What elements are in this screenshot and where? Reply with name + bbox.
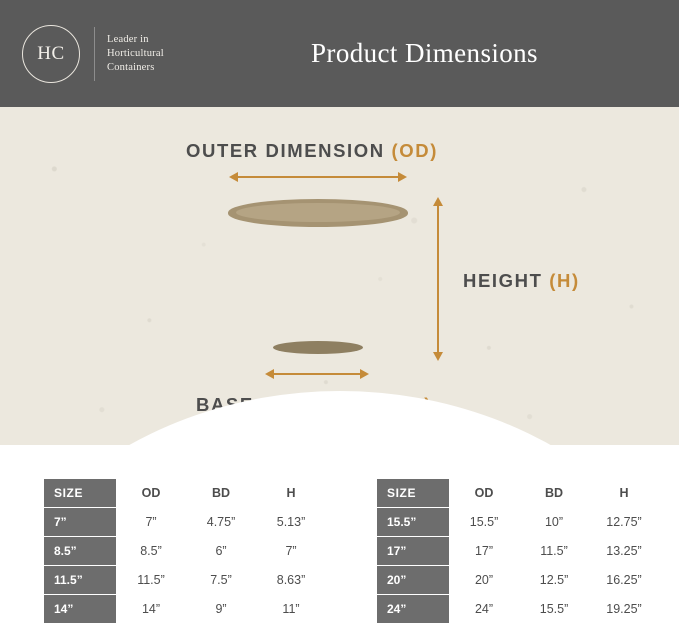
value-cell: 7”	[256, 537, 326, 566]
table-row: 8.5”8.5”6”7”	[44, 537, 326, 566]
pot-rim-inner	[236, 203, 400, 222]
height-label-text: HEIGHT	[463, 270, 549, 291]
dimension-table-right: SIZEODBDH15.5”15.5”10”12.75”17”17”11.5”1…	[377, 479, 659, 623]
value-cell: 8.5”	[116, 537, 186, 566]
column-header-size: SIZE	[377, 479, 449, 508]
size-cell: 24”	[377, 595, 449, 624]
value-cell: 6”	[186, 537, 256, 566]
diagram-panel: OUTER DIMENSION (OD) HEIGHT (H) BASE DIM…	[0, 107, 679, 451]
logo-tagline: Leader in Horticultural Containers	[107, 33, 164, 75]
outer-dimension-label: OUTER DIMENSION (OD)	[186, 140, 438, 162]
pot-illustration	[228, 199, 408, 364]
pot-base	[273, 341, 363, 354]
size-cell: 17”	[377, 537, 449, 566]
table-row: 14”14”9”11”	[44, 595, 326, 624]
pot-body	[235, 213, 401, 349]
column-header-od: OD	[449, 479, 519, 508]
dimension-tables: SIZEODBDH7”7”4.75”5.13”8.5”8.5”6”7”11.5”…	[0, 455, 679, 636]
pot-rim	[228, 199, 408, 227]
height-abbr: (H)	[549, 270, 579, 291]
value-cell: 12.5”	[519, 566, 589, 595]
brand-logo: HC Leader in Horticultural Containers	[0, 25, 200, 83]
value-cell: 5.13”	[256, 508, 326, 537]
dimension-table-left-wrap: SIZEODBDH7”7”4.75”5.13”8.5”8.5”6”7”11.5”…	[44, 479, 326, 623]
value-cell: 14”	[116, 595, 186, 624]
base-dimension-arrow-icon	[273, 373, 361, 375]
column-header-od: OD	[116, 479, 186, 508]
value-cell: 13.25”	[589, 537, 659, 566]
logo-divider	[94, 27, 95, 81]
value-cell: 11.5”	[116, 566, 186, 595]
table-row: 11.5”11.5”7.5”8.63”	[44, 566, 326, 595]
product-dimensions-page: HC Leader in Horticultural Containers Pr…	[0, 0, 679, 636]
size-cell: 15.5”	[377, 508, 449, 537]
page-title: Product Dimensions	[200, 38, 679, 69]
outer-dimension-arrow-icon	[237, 176, 399, 178]
column-header-bd: BD	[186, 479, 256, 508]
value-cell: 7.5”	[186, 566, 256, 595]
value-cell: 17”	[449, 537, 519, 566]
dimension-table-left: SIZEODBDH7”7”4.75”5.13”8.5”8.5”6”7”11.5”…	[44, 479, 326, 623]
size-cell: 11.5”	[44, 566, 116, 595]
value-cell: 19.25”	[589, 595, 659, 624]
column-header-h: H	[589, 479, 659, 508]
column-header-size: SIZE	[44, 479, 116, 508]
logo-tagline-line-1: Leader in	[107, 33, 164, 47]
logo-tagline-line-3: Containers	[107, 61, 164, 75]
value-cell: 24”	[449, 595, 519, 624]
outer-dimension-label-text: OUTER DIMENSION	[186, 140, 391, 161]
value-cell: 20”	[449, 566, 519, 595]
size-cell: 7”	[44, 508, 116, 537]
table-header-row: SIZEODBDH	[44, 479, 326, 508]
logo-monogram-circle: HC	[22, 25, 80, 83]
value-cell: 16.25”	[589, 566, 659, 595]
column-header-h: H	[256, 479, 326, 508]
value-cell: 15.5”	[519, 595, 589, 624]
table-row: 17”17”11.5”13.25”	[377, 537, 659, 566]
value-cell: 15.5”	[449, 508, 519, 537]
size-cell: 20”	[377, 566, 449, 595]
value-cell: 7”	[116, 508, 186, 537]
value-cell: 11.5”	[519, 537, 589, 566]
panel-bottom-fill	[0, 445, 679, 451]
value-cell: 8.63”	[256, 566, 326, 595]
page-header: HC Leader in Horticultural Containers Pr…	[0, 0, 679, 107]
dimension-table-right-wrap: SIZEODBDH15.5”15.5”10”12.75”17”17”11.5”1…	[377, 479, 659, 623]
table-row: 24”24”15.5”19.25”	[377, 595, 659, 624]
value-cell: 11”	[256, 595, 326, 624]
column-header-bd: BD	[519, 479, 589, 508]
height-arrow-icon	[437, 205, 439, 353]
logo-monogram-text: HC	[37, 43, 64, 65]
size-cell: 8.5”	[44, 537, 116, 566]
value-cell: 4.75”	[186, 508, 256, 537]
value-cell: 10”	[519, 508, 589, 537]
table-header-row: SIZEODBDH	[377, 479, 659, 508]
height-label: HEIGHT (H)	[463, 270, 580, 292]
outer-dimension-abbr: (OD)	[391, 140, 437, 161]
value-cell: 12.75”	[589, 508, 659, 537]
table-row: 15.5”15.5”10”12.75”	[377, 508, 659, 537]
table-row: 20”20”12.5”16.25”	[377, 566, 659, 595]
size-cell: 14”	[44, 595, 116, 624]
value-cell: 9”	[186, 595, 256, 624]
logo-tagline-line-2: Horticultural	[107, 47, 164, 61]
table-row: 7”7”4.75”5.13”	[44, 508, 326, 537]
